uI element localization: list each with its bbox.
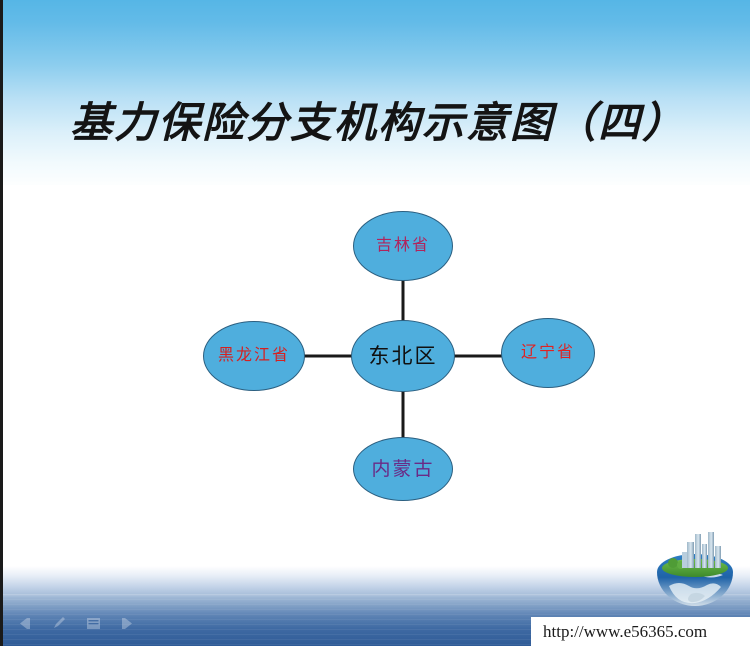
building-icon [702,544,707,568]
diagram-node-label: 吉林省 [376,238,430,254]
building-icon [695,534,701,568]
watermark-bar: http://www.e56365.com [531,617,750,646]
diagram-node-label: 东北区 [369,346,438,367]
next-slide-button[interactable] [117,614,137,632]
previous-slide-button[interactable] [15,614,35,632]
diagram-node-neimenggu[interactable]: 内蒙古 [353,437,453,501]
pen-icon [52,616,66,630]
building-icon [708,532,714,568]
diagram-node-liaoning[interactable]: 辽宁省 [501,318,595,388]
building-icon [687,542,694,568]
watermark-url: http://www.e56365.com [531,622,707,642]
presentation-slide: 基力保险分支机构示意图（四） 吉林省 黑龙江省 东北区 辽宁省 内蒙古 [0,0,750,646]
org-diagram: 吉林省 黑龙江省 东北区 辽宁省 内蒙古 [3,0,750,646]
diagram-node-center-dongbeiqu[interactable]: 东北区 [351,320,455,392]
diagram-node-label: 辽宁省 [521,345,575,361]
tree-icon [668,558,678,568]
diagram-connectors [3,0,750,646]
arrow-right-icon [119,617,135,630]
diagram-node-label: 内蒙古 [371,460,434,479]
diagram-node-label: 黑龙江省 [218,348,290,364]
building-icon [682,552,687,568]
slideshow-nav-controls[interactable] [15,614,137,632]
globe-city-logo [647,528,743,616]
arrow-left-icon [17,617,33,630]
slide-menu-button[interactable] [83,614,103,632]
diagram-node-heilongjiang[interactable]: 黑龙江省 [203,321,305,391]
pen-tool-button[interactable] [49,614,69,632]
building-icon [715,546,721,568]
diagram-node-jilin[interactable]: 吉林省 [353,211,453,281]
menu-icon [86,617,101,630]
